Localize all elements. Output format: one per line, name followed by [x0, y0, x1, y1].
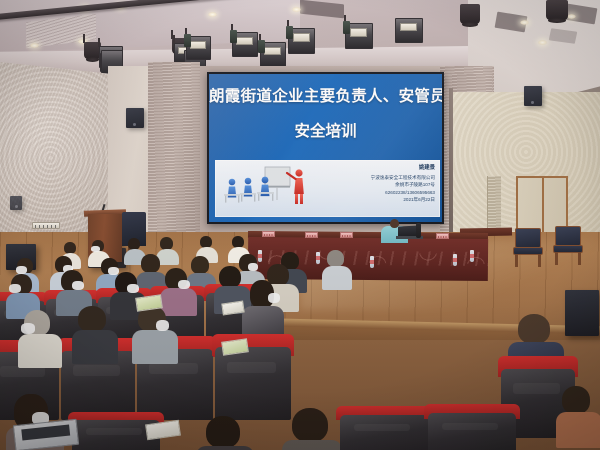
torso — [160, 288, 197, 316]
slide-title-line-1: 朗霞街道企业主要负责人、安管员 — [209, 88, 442, 106]
auditorium-seat[interactable] — [336, 406, 432, 450]
door-center-split — [542, 178, 544, 234]
head — [141, 254, 160, 273]
fixture-lens — [293, 33, 310, 42]
torso — [132, 330, 178, 364]
torso — [72, 330, 118, 364]
presentation-slide: 朗霞街道企业主要负责人、安管员 安全培训 — [209, 74, 442, 222]
torso — [282, 440, 342, 450]
wall-corner-edge — [449, 88, 453, 244]
face-mask — [156, 320, 169, 331]
wall-speaker — [524, 86, 542, 106]
audience-area — [0, 236, 600, 450]
barn-door — [184, 34, 191, 47]
head — [78, 306, 106, 332]
face-mask — [9, 284, 21, 293]
presenter-name: 姚建景 — [319, 164, 435, 173]
fixture-lens — [190, 41, 206, 49]
contact-phone: 62602238/13606595663 — [319, 189, 435, 196]
face-mask — [127, 284, 139, 293]
wall-speaker — [126, 108, 144, 128]
company-name: 宁波逸泰安全工程技术有限公司 — [319, 174, 435, 181]
torso — [196, 446, 254, 450]
torso — [242, 306, 284, 336]
fixture-lens — [350, 28, 368, 37]
slide-credits-block: 姚建景 宁波逸泰安全工程技术有限公司 余姚市子陵路107号 62602238/1… — [319, 160, 440, 217]
classroom-training-illustration — [215, 160, 319, 217]
torso — [18, 334, 62, 368]
barn-door — [230, 30, 237, 43]
slide-title-block: 朗霞街道企业主要负责人、安管员 安全培训 — [209, 88, 442, 141]
attendee-laptop — [13, 419, 79, 450]
barn-door — [343, 21, 350, 34]
fixture-lens — [400, 23, 418, 32]
attendee-handout — [145, 420, 181, 441]
head — [292, 408, 328, 442]
slide-footer-panel: 姚建景 宁波逸泰安全工程技术有限公司 余姚市子陵路107号 62602238/1… — [215, 160, 440, 217]
seat-back — [340, 415, 428, 450]
ceiling-downlight — [520, 20, 529, 25]
illustration-svg — [215, 160, 319, 217]
face-mask — [178, 280, 190, 289]
face-mask — [16, 266, 27, 274]
ceiling-downlight — [292, 7, 301, 12]
ceiling-downlight — [567, 14, 576, 19]
face-mask — [108, 267, 119, 275]
slide-date: 2021年6月22日 — [319, 196, 435, 203]
head — [191, 256, 209, 274]
auditorium-seat[interactable] — [424, 404, 520, 450]
face-mask — [21, 323, 35, 334]
barn-door — [286, 26, 293, 39]
head — [219, 266, 241, 288]
striped-wall-curtain — [148, 62, 200, 244]
seat-back — [428, 413, 516, 450]
torso — [556, 412, 600, 448]
face-mask — [91, 246, 100, 252]
head — [562, 386, 590, 414]
projection-screen: 朗霞街道企业主要负责人、安管员 安全培训 — [207, 72, 444, 224]
wall-control-panel[interactable] — [32, 222, 60, 229]
face-mask — [248, 263, 258, 271]
company-address: 余姚市子陵路107号 — [319, 181, 435, 188]
wall-speaker — [10, 196, 22, 210]
ceiling-downlight — [30, 43, 39, 48]
fixture-body — [395, 18, 423, 43]
conference-hall-photo: 朗霞街道企业主要负责人、安管员 安全培训 — [0, 0, 600, 450]
seat-back — [215, 347, 290, 419]
par-can-body — [546, 0, 568, 20]
head — [206, 416, 240, 448]
slide-title-line-2: 安全培训 — [209, 119, 442, 141]
face-mask — [72, 281, 84, 290]
head — [518, 314, 550, 344]
ceiling-downlight — [538, 40, 547, 45]
face-mask — [268, 293, 280, 303]
ceiling-downlight — [208, 12, 217, 17]
fixture-lens — [236, 37, 252, 46]
torso — [322, 266, 352, 290]
fixture-lens — [264, 47, 280, 56]
head — [327, 250, 344, 267]
par-can-body — [460, 4, 480, 24]
barn-door — [258, 40, 265, 53]
